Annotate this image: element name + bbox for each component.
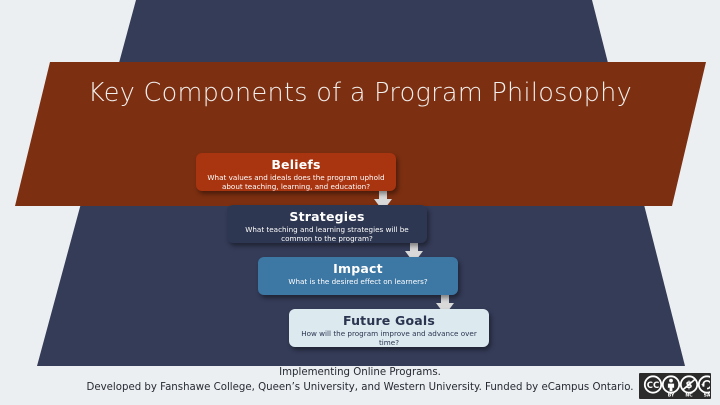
step-description: What is the desired effect on learners? xyxy=(258,276,458,286)
svg-text:CC: CC xyxy=(647,381,659,391)
step-title: Beliefs xyxy=(196,157,396,172)
diagram-step-beliefs: Beliefs What values and ideals does the … xyxy=(196,153,396,191)
term-label-by: BY xyxy=(668,392,675,397)
cc-by-nc-sa-badge[interactable]: CC $ BY NC SA xyxy=(639,373,711,399)
diagram-step-future-goals: Future Goals How will the program improv… xyxy=(289,309,489,347)
term-label-sa: SA xyxy=(704,392,710,397)
slide: Key Components of a Program Philosophy B… xyxy=(0,0,720,405)
term-label-nc: NC xyxy=(685,392,693,397)
step-description: What teaching and learning strategies wi… xyxy=(227,224,427,243)
step-title: Strategies xyxy=(227,209,427,224)
step-title: Future Goals xyxy=(289,313,489,328)
step-description: How will the program improve and advance… xyxy=(289,328,489,347)
step-title: Impact xyxy=(258,261,458,276)
footer-line-2: Developed by Fanshawe College, Queen’s U… xyxy=(0,380,720,395)
footer-line-1: Implementing Online Programs. xyxy=(0,365,720,380)
page-title: Key Components of a Program Philosophy xyxy=(0,78,720,108)
footer-credits: Implementing Online Programs. Developed … xyxy=(0,365,720,395)
step-description: What values and ideals does the program … xyxy=(196,172,396,191)
diagram-step-impact: Impact What is the desired effect on lea… xyxy=(258,257,458,295)
diagram-step-strategies: Strategies What teaching and learning st… xyxy=(227,205,427,243)
cc-badge-icons: CC $ BY NC SA xyxy=(642,375,710,397)
